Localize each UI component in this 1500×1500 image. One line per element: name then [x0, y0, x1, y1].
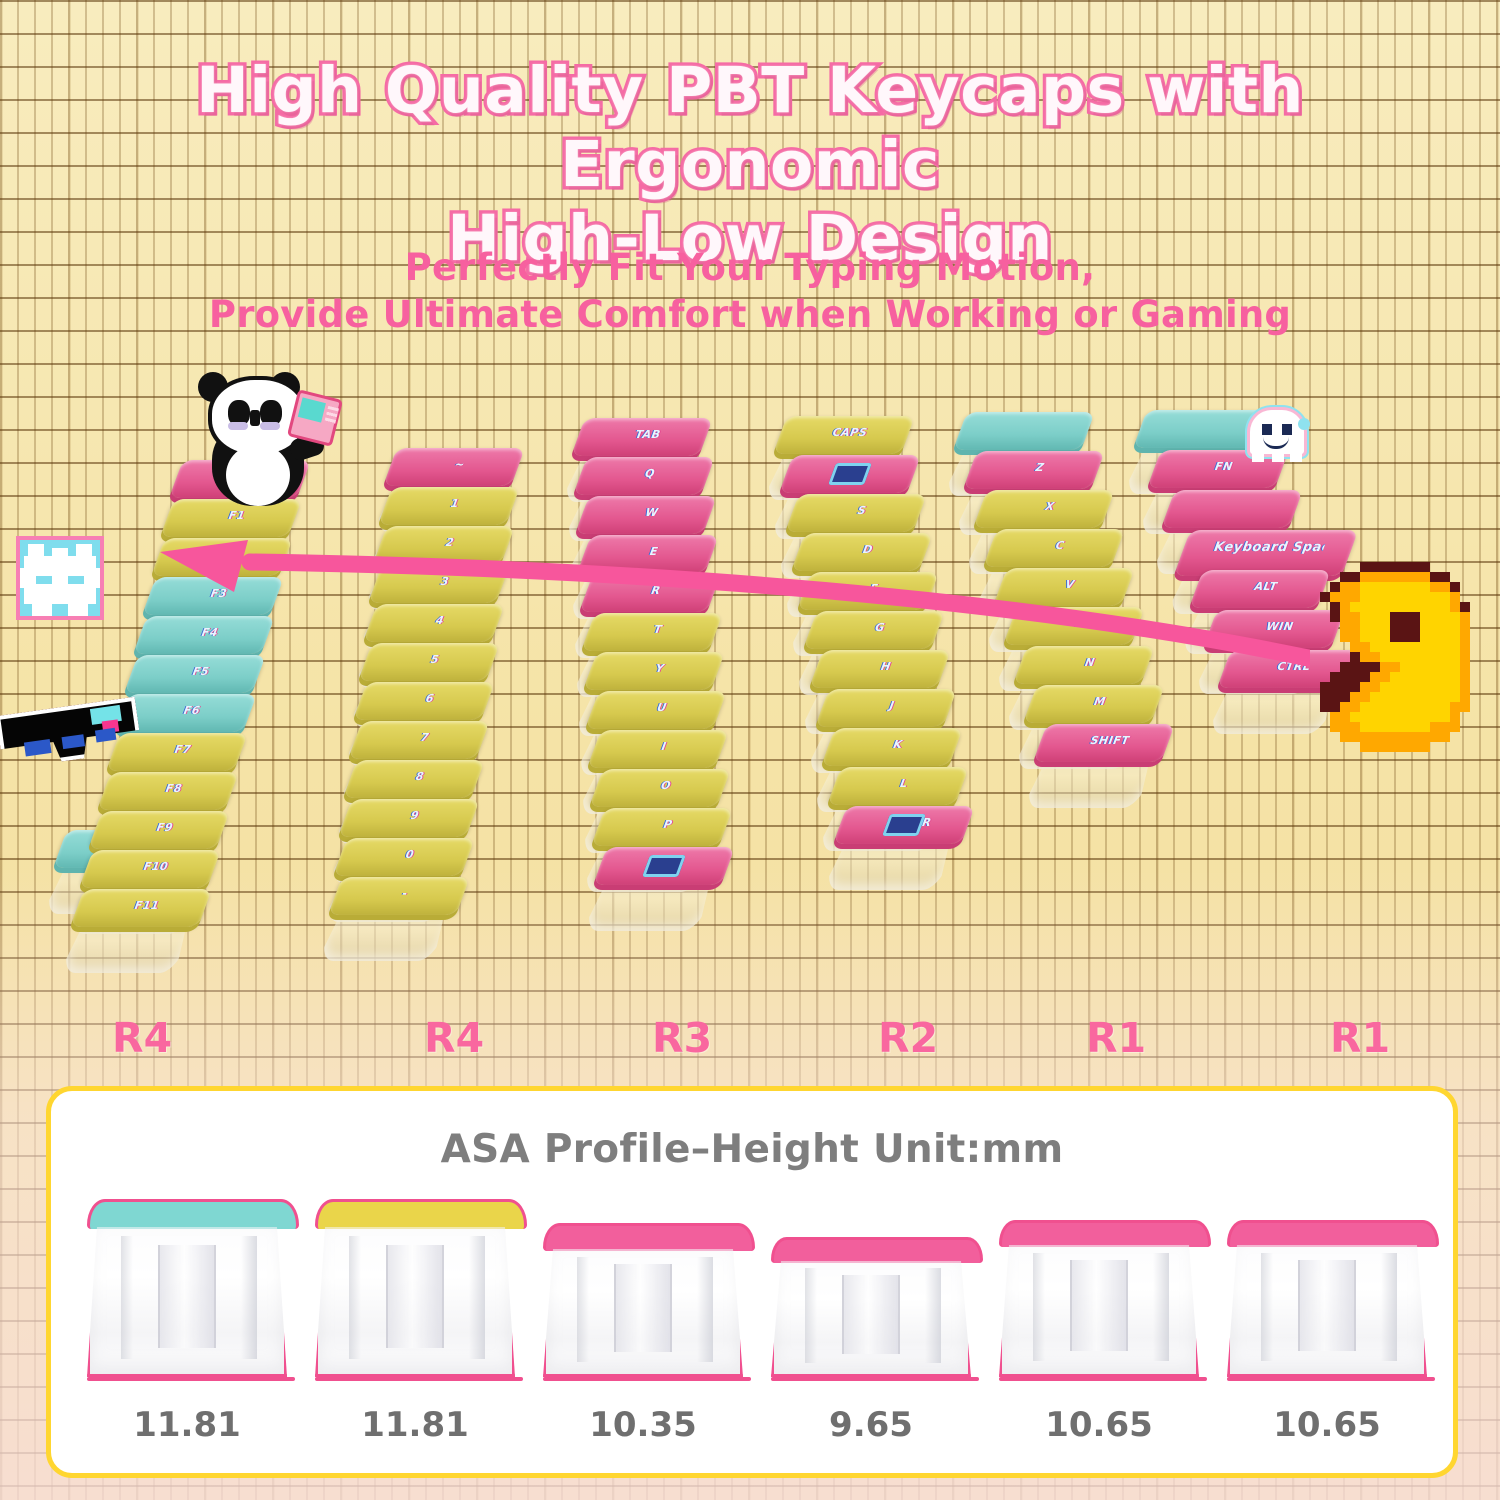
keycap-legend: X — [1013, 500, 1088, 513]
keycap-cross-section — [999, 1220, 1199, 1381]
keycap-top — [1161, 490, 1303, 528]
keycap-legend: P — [631, 818, 706, 831]
keycap-legend: I — [627, 740, 702, 753]
keycap-legend: M — [1063, 695, 1138, 708]
pacman-icon — [1300, 562, 1480, 762]
keycap-legend: F11 — [110, 899, 185, 912]
title-line-1: High Quality PBT Keycaps with Ergonomic — [0, 54, 1500, 202]
keycap-legend: F6 — [155, 704, 230, 717]
profile-r1-pink: 10.65 — [989, 1220, 1209, 1445]
product-infographic: High Quality PBT Keycaps with Ergonomic … — [0, 0, 1500, 1500]
keycap[interactable]: S — [785, 494, 927, 532]
profile-height-value: 11.81 — [361, 1405, 469, 1445]
keycap[interactable]: O — [589, 769, 731, 807]
row-label-r1: R1 — [1086, 1014, 1146, 1062]
keycap[interactable]: U — [585, 691, 727, 729]
ghost-leg — [1290, 452, 1302, 462]
keycap-legend: - — [368, 887, 443, 900]
keycap-colored-top — [771, 1237, 983, 1263]
row-label-r4: R4 — [112, 1014, 172, 1062]
keycap-colored-top — [1227, 1220, 1439, 1247]
console-buttons — [324, 406, 339, 424]
keycap-base-line — [1227, 1377, 1435, 1381]
keycap-legend: F7 — [146, 743, 221, 756]
keycap[interactable]: TAB — [571, 418, 713, 456]
keycap[interactable]: F10 — [79, 850, 221, 888]
keycap-colored-top — [87, 1199, 299, 1229]
panda-snout — [250, 410, 260, 426]
panel-title: ASA Profile–Height Unit:mm — [51, 1127, 1453, 1172]
keycap[interactable]: M — [1023, 685, 1165, 723]
keycap[interactable]: 9 — [338, 799, 480, 837]
keycap-clear-body — [771, 1261, 971, 1377]
keycap-legend: W — [615, 506, 690, 519]
profile-height-value: 9.65 — [829, 1405, 913, 1445]
keycap-legend: 6 — [393, 692, 468, 705]
row-label-r3: R3 — [652, 1014, 712, 1062]
keycap-clear-body — [543, 1249, 743, 1377]
keycap-clear-body — [87, 1227, 287, 1377]
keycap-clear-body — [1227, 1245, 1427, 1377]
panda-blush-left — [228, 422, 248, 430]
keycap-legend: S — [825, 504, 900, 517]
keycap-cross-section — [1227, 1220, 1427, 1381]
keycap-legend: SHIFT — [1073, 734, 1148, 747]
ghost-accent-dot — [1298, 418, 1310, 430]
ghost-leg — [1252, 452, 1264, 462]
keycap-cross-section — [771, 1237, 971, 1381]
keycap-legend: F10 — [119, 860, 194, 873]
row-label-r4: R4 — [424, 1014, 484, 1062]
console-screen — [298, 397, 326, 422]
pacman-sprite — [1300, 562, 1480, 762]
keycap[interactable]: 1 — [378, 487, 520, 525]
keycap-cross-section — [543, 1223, 743, 1381]
keycap-legend: 8 — [383, 770, 458, 783]
ghost-sprite — [1242, 404, 1312, 472]
direction-arrow — [130, 540, 1310, 680]
keycap-legend: Z — [1003, 461, 1078, 474]
keycap-legend: CAPS — [813, 426, 888, 439]
keycap[interactable]: Z — [963, 451, 1105, 489]
keycap[interactable]: 0 — [333, 838, 475, 876]
keycap[interactable] — [593, 847, 735, 885]
profile-height-value: 10.65 — [1045, 1405, 1153, 1445]
keycap[interactable]: 7 — [348, 721, 490, 759]
keycap-internal-stem — [842, 1275, 900, 1354]
subtitle-line-1: Perfectly Fit Your Typing Motion, — [0, 244, 1500, 291]
row-label-group: R4R4R3R2R1R1 — [0, 1014, 1500, 1064]
keycap[interactable]: 8 — [343, 760, 485, 798]
keycap-legend: U — [625, 701, 700, 714]
profile-height-value: 10.65 — [1273, 1405, 1381, 1445]
profile-r1b-pink: 10.65 — [1217, 1220, 1437, 1445]
profile-r2-pink: 9.65 — [761, 1237, 981, 1445]
profile-height-value: 11.81 — [133, 1405, 241, 1445]
keycap[interactable]: ~ — [383, 448, 525, 486]
panda-blush-right — [260, 422, 280, 430]
keycap-legend: 7 — [388, 731, 463, 744]
panda-sprite — [186, 366, 346, 526]
keycap-legend: TAB — [611, 428, 686, 441]
keycap-internal-stem — [614, 1264, 672, 1352]
keycap-base-line — [771, 1377, 979, 1381]
keycap[interactable]: F11 — [70, 889, 212, 927]
keycap-legend: O — [629, 779, 704, 792]
keycap[interactable]: ENTER — [833, 806, 975, 844]
keycap-base-line — [87, 1377, 295, 1381]
profile-list: 11.8111.8110.359.6510.6510.65 — [77, 1195, 1437, 1445]
keycap[interactable]: F9 — [88, 811, 230, 849]
keycap-base-line — [315, 1377, 523, 1381]
keycap-colored-top — [543, 1223, 755, 1251]
profile-r3-pink: 10.35 — [533, 1223, 753, 1445]
ghost-eye-left — [1262, 424, 1272, 435]
keycap-internal-stem — [1298, 1260, 1356, 1350]
keycap-clear-body — [999, 1245, 1199, 1377]
keycap[interactable]: K — [821, 728, 963, 766]
keycap-top — [953, 412, 1095, 450]
keycap-legend: F8 — [137, 782, 212, 795]
keycap-internal-stem — [1070, 1260, 1128, 1350]
profile-height-panel: ASA Profile–Height Unit:mm 11.8111.8110.… — [46, 1086, 1458, 1478]
row-label-r2: R2 — [878, 1014, 938, 1062]
keycap[interactable]: J — [815, 689, 957, 727]
keycap-colored-top — [999, 1220, 1211, 1247]
page-subtitle: Perfectly Fit Your Typing Motion, Provid… — [0, 244, 1500, 338]
keycap[interactable]: A — [779, 455, 921, 493]
row-label-r1: R1 — [1330, 1014, 1390, 1062]
keycap-internal-stem — [386, 1245, 444, 1348]
keycap[interactable]: I — [587, 730, 729, 768]
keycap-clear-body — [315, 1227, 515, 1377]
keycap-colored-top — [315, 1199, 527, 1229]
sunglasses-highlight-blue — [24, 739, 52, 756]
keycap-legend: 9 — [378, 809, 453, 822]
keycap-legend: 0 — [373, 848, 448, 861]
keycap-legend: 1 — [418, 497, 493, 510]
invader-robot-icon — [8, 532, 112, 632]
keycap-internal-stem — [158, 1245, 216, 1348]
sunglasses-highlight-blue — [95, 728, 116, 743]
invader-robot-sprite — [8, 532, 112, 632]
subtitle-line-2: Provide Ultimate Comfort when Working or… — [0, 291, 1500, 338]
keycap-cross-section — [315, 1199, 515, 1381]
keycap[interactable]: CAPS — [773, 416, 915, 454]
keycap-cross-section — [87, 1199, 287, 1381]
keycap[interactable]: SHIFT — [1033, 724, 1175, 762]
keycap[interactable] — [953, 412, 1095, 450]
keycap-legend: J — [855, 699, 930, 712]
keycap[interactable]: - — [328, 877, 470, 915]
keycap-base-line — [999, 1377, 1207, 1381]
keycap-legend: K — [861, 738, 936, 751]
keycap-legend: Q — [613, 467, 688, 480]
keycap[interactable]: P — [591, 808, 733, 846]
profile-r4-yellow: 11.81 — [305, 1199, 525, 1445]
profile-height-value: 10.35 — [589, 1405, 697, 1445]
ghost-eye-right — [1282, 424, 1292, 435]
page-title: High Quality PBT Keycaps with Ergonomic … — [0, 54, 1500, 276]
keycap-legend: F9 — [128, 821, 203, 834]
keycap[interactable]: L — [827, 767, 969, 805]
keycap[interactable]: W — [575, 496, 717, 534]
keycap[interactable]: 6 — [353, 682, 495, 720]
keycap[interactable]: Q — [573, 457, 715, 495]
keycap-legend: ~ — [423, 458, 498, 471]
ghost-leg — [1272, 452, 1284, 462]
keycap[interactable] — [1161, 490, 1303, 528]
keycap[interactable]: X — [973, 490, 1115, 528]
sunglasses-icon — [0, 697, 142, 770]
profile-r4-teal: 11.81 — [77, 1199, 297, 1445]
keycap-legend: L — [867, 777, 942, 790]
keycap-base-line — [543, 1377, 751, 1381]
